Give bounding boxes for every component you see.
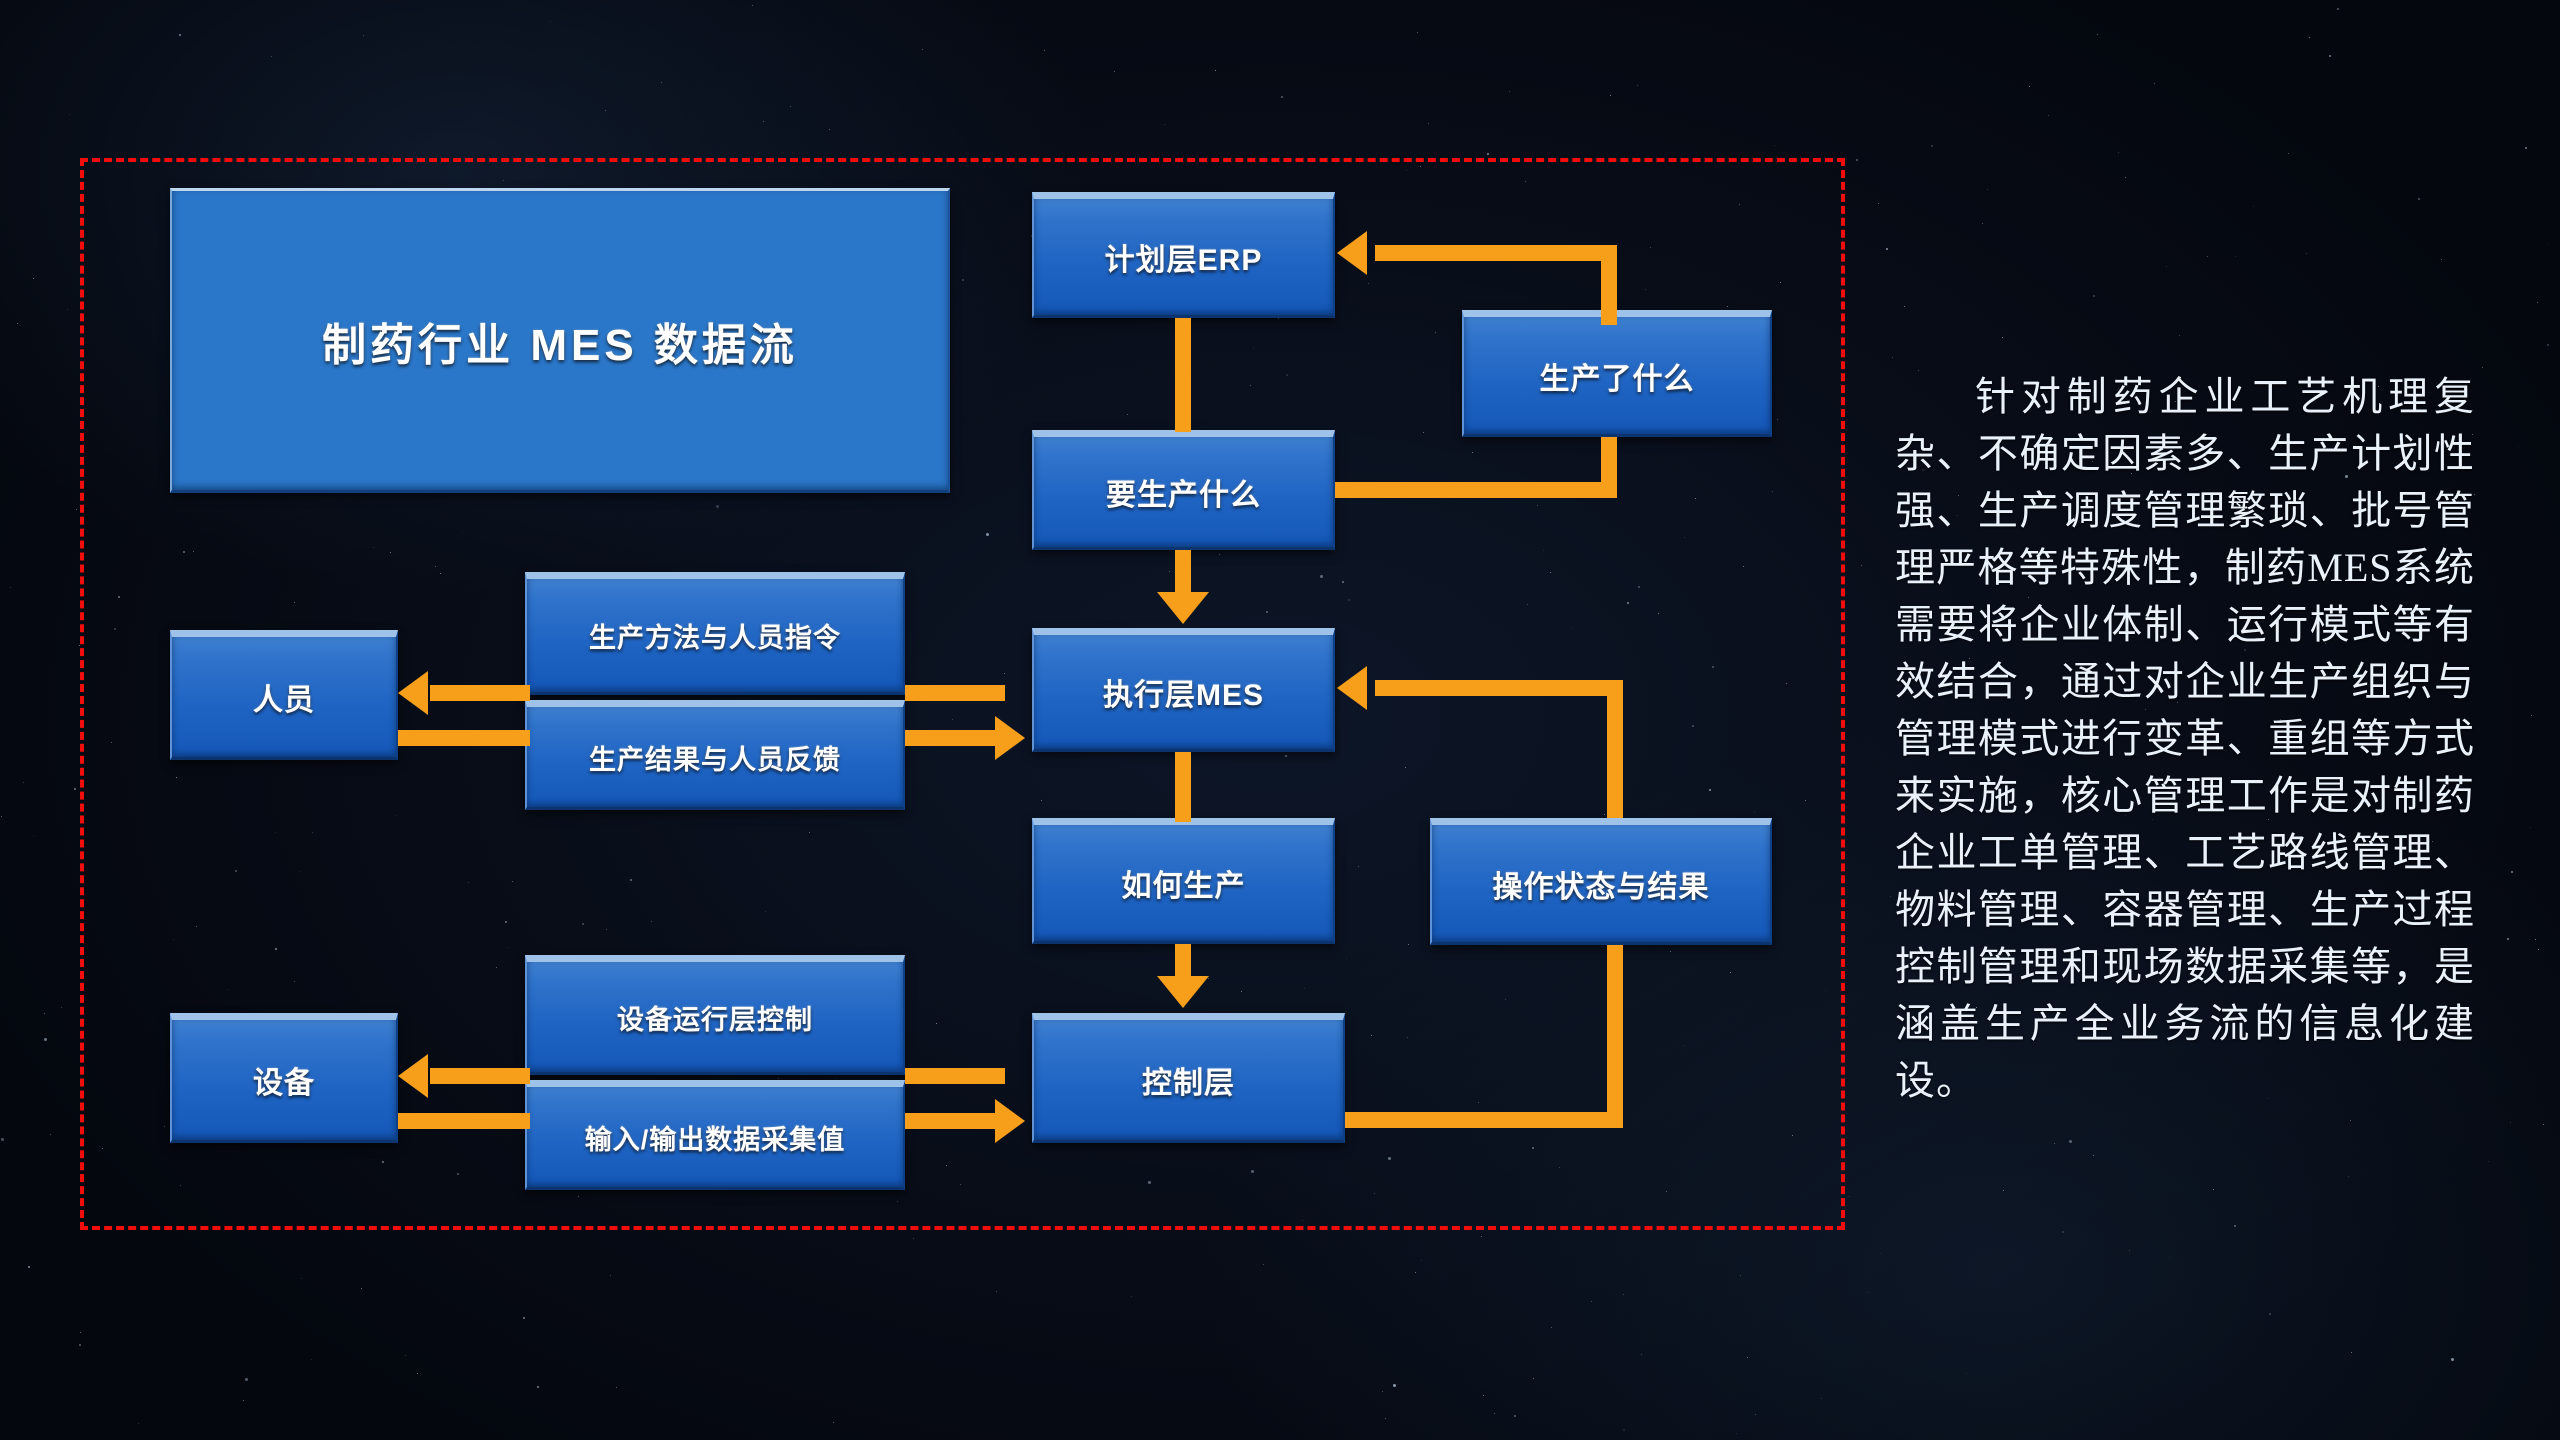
- connector-op-status-up-segment: [1607, 680, 1623, 818]
- node-planning-layer-erp[interactable]: 计划层ERP: [1032, 192, 1335, 318]
- node-label: 人员: [253, 675, 315, 719]
- node-control-layer[interactable]: 控制层: [1032, 1013, 1345, 1143]
- edge-label-production-result-and-personnel-feedback: 生产结果与人员反馈: [525, 700, 905, 810]
- node-label: 生产了什么: [1540, 354, 1695, 398]
- node-how-to-produce[interactable]: 如何生产: [1032, 818, 1335, 944]
- connector-what-to-produce-right-segment: [1335, 482, 1617, 498]
- node-label: 要生产什么: [1106, 470, 1261, 514]
- arrowhead-to-erp: [1337, 231, 1367, 275]
- edge-label-io-data-collection-value: 输入/输出数据采集值: [525, 1080, 905, 1190]
- node-equipment[interactable]: 设备: [170, 1013, 398, 1143]
- node-people[interactable]: 人员: [170, 630, 398, 760]
- edge-label-production-method-and-personnel-instruction: 生产方法与人员指令: [525, 572, 905, 695]
- edge-label-text: 设备运行层控制: [617, 998, 813, 1037]
- node-operation-status-and-result[interactable]: 操作状态与结果: [1430, 818, 1772, 945]
- arrowhead-to-mes: [1157, 592, 1209, 624]
- connector-mes-to-people-line: [430, 685, 530, 701]
- body-paragraph: 针对制药企业工艺机理复杂、不确定因素多、生产计划性强、生产调度管理繁琐、批号管理…: [1895, 368, 2475, 1109]
- connector-mes-to-how-produce: [1175, 752, 1191, 822]
- arrowhead-to-mes-from-op-status: [1337, 666, 1367, 710]
- connector-people-to-mes-line: [398, 730, 530, 746]
- node-label: 设备: [253, 1058, 315, 1102]
- connector-how-produce-to-control: [1175, 944, 1191, 980]
- node-label: 控制层: [1142, 1058, 1235, 1102]
- edge-label-equipment-run-layer-control: 设备运行层控制: [525, 955, 905, 1075]
- edge-label-text: 生产方法与人员指令: [589, 616, 841, 655]
- node-what-to-produce[interactable]: 要生产什么: [1032, 430, 1335, 550]
- connector-control-right-segment: [1345, 1112, 1623, 1128]
- arrowhead-to-control-from-equipment: [995, 1099, 1025, 1143]
- connector-control-up-to-op-status: [1607, 945, 1623, 1128]
- node-execution-layer-mes[interactable]: 执行层MES: [1032, 628, 1335, 752]
- connector-erp-to-what-to-produce: [1175, 318, 1191, 432]
- connector-op-status-to-mes-horizontal: [1375, 680, 1623, 696]
- connector-control-to-equipment-line: [430, 1068, 530, 1084]
- diagram-title-box: 制药行业 MES 数据流: [170, 188, 950, 493]
- connector-up-to-produced-what: [1601, 437, 1617, 498]
- diagram-title-label: 制药行业 MES 数据流: [322, 309, 798, 373]
- connector-produced-what-to-erp-horizontal: [1375, 245, 1617, 261]
- arrowhead-to-people: [398, 671, 428, 715]
- connector-devctrl-label-to-control-line: [905, 1068, 1005, 1084]
- connector-method-label-to-mes-line: [905, 685, 1005, 701]
- edge-label-text: 输入/输出数据采集值: [585, 1118, 846, 1157]
- arrowhead-to-control: [1157, 976, 1209, 1008]
- node-label: 操作状态与结果: [1493, 862, 1710, 906]
- arrowhead-to-equipment: [398, 1054, 428, 1098]
- connector-io-label-to-control-line: [905, 1113, 995, 1129]
- node-label: 计划层ERP: [1105, 235, 1263, 279]
- edge-label-text: 生产结果与人员反馈: [589, 738, 841, 777]
- connector-feedback-label-to-mes-line: [905, 730, 995, 746]
- connector-equipment-to-control-line: [398, 1113, 530, 1129]
- arrowhead-to-mes-from-people: [995, 716, 1025, 760]
- node-label: 如何生产: [1122, 861, 1246, 905]
- slide-canvas: 制药行业 MES 数据流 计划层ERP 要生产什么 执行层MES 如何生产 控制…: [0, 0, 2560, 1440]
- node-what-was-produced[interactable]: 生产了什么: [1462, 310, 1772, 437]
- node-label: 执行层MES: [1103, 670, 1264, 714]
- connector-what-to-produce-to-mes: [1175, 550, 1191, 596]
